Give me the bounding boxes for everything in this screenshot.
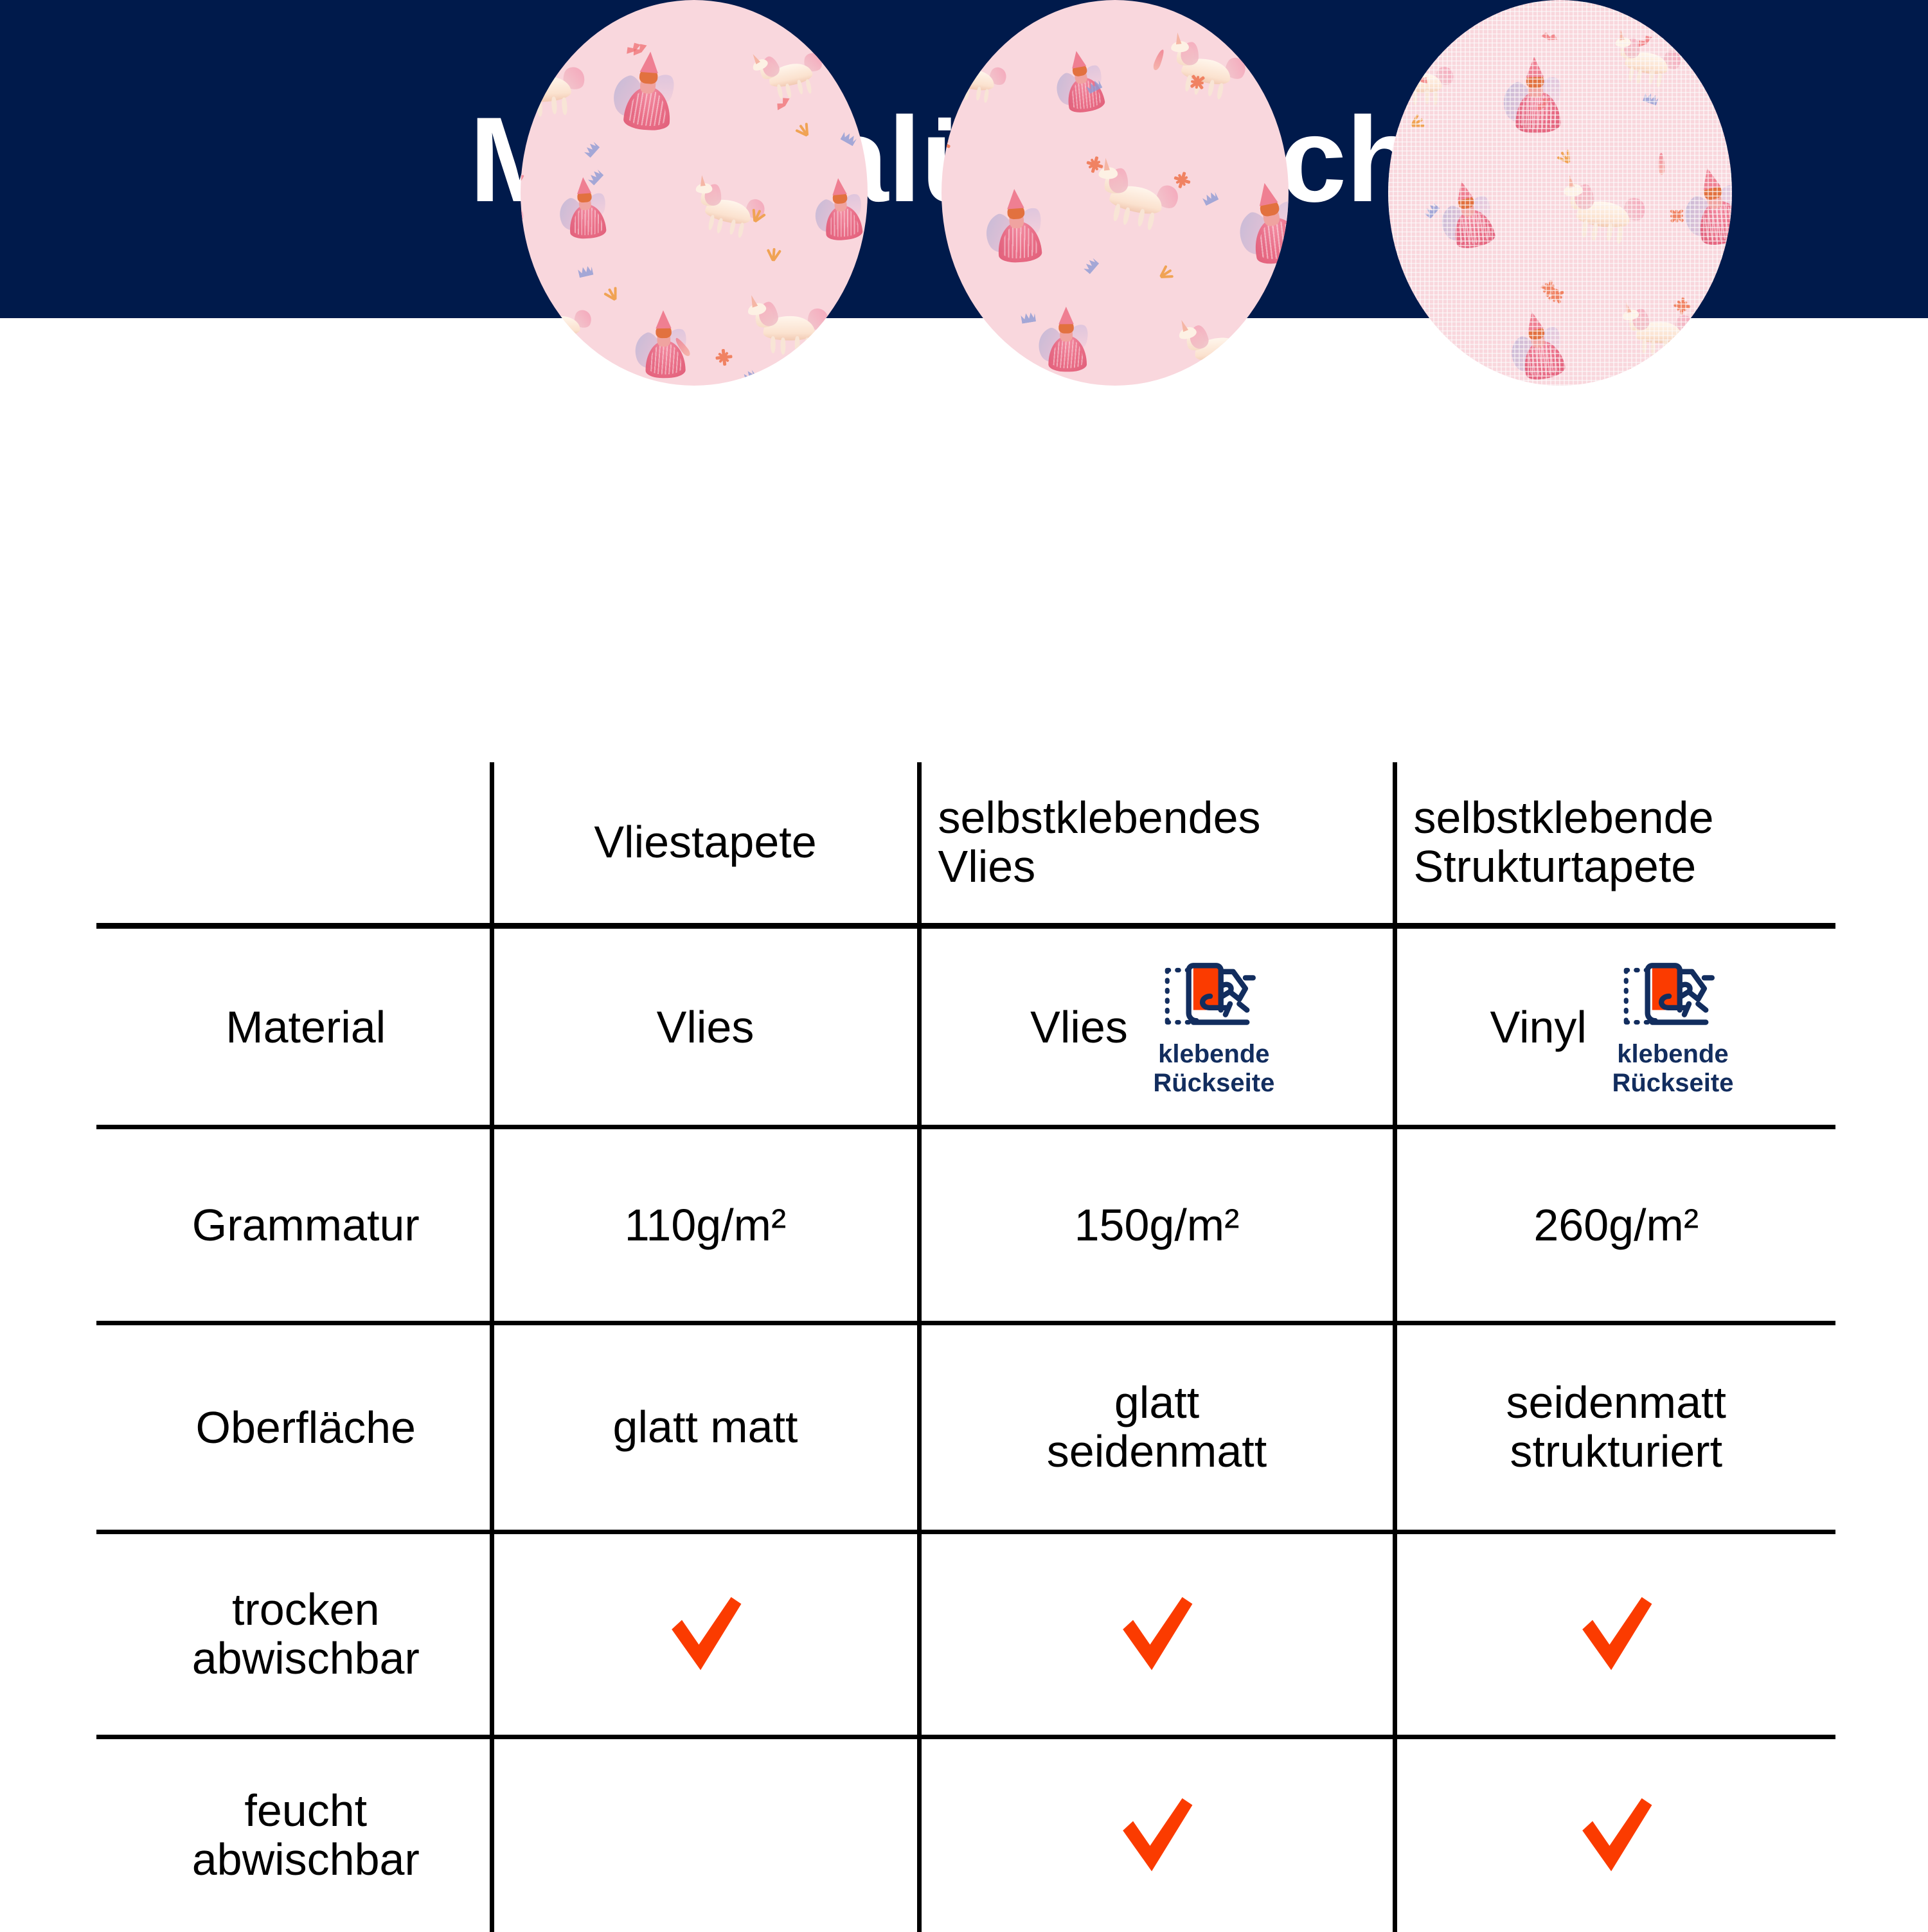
table-row-oberflaeche: Oberfläche glatt matt glatt seidenmatt s… — [96, 1323, 1835, 1532]
sprout-motif — [942, 0, 947, 4]
fairy-motif — [618, 58, 678, 134]
check-icon — [663, 1592, 748, 1677]
unicorn-motif — [942, 309, 994, 366]
fairy-motif — [1510, 64, 1566, 137]
feather-motif — [1284, 30, 1289, 49]
check-icon — [1114, 1592, 1199, 1677]
fairy-motif — [1512, 314, 1571, 386]
bird-motif — [563, 0, 579, 18]
bird-motif — [1540, 31, 1558, 42]
cell-feucht-selbstklebende-strukturtapete — [1395, 1737, 1835, 1932]
cell-oberflaeche-selbstklebendes-vlies: glatt seidenmatt — [919, 1323, 1395, 1532]
badge-caption-line-2: Rückseite — [1153, 1069, 1274, 1097]
check-icon — [1574, 1592, 1659, 1677]
crown-motif — [578, 265, 594, 278]
cell-value-line: glatt — [922, 1379, 1393, 1427]
row-label-line: abwischbar — [122, 1634, 490, 1683]
adhesive-back-icon — [1615, 956, 1731, 1036]
bird-motif — [767, 9, 786, 22]
bird-motif — [1438, 17, 1456, 33]
row-label-line: feucht — [122, 1787, 490, 1836]
fairy-unicorn-pattern — [942, 0, 1289, 386]
fairy-motif — [990, 195, 1046, 267]
cell-feucht-vliestapete — [492, 1737, 919, 1932]
cell-value: Vlies — [1030, 1001, 1128, 1053]
material-spec-table: Vliestapete selbstklebendes Vlies selbst… — [96, 762, 1835, 1932]
crown-motif — [1202, 190, 1219, 206]
fairy-unicorn-pattern — [521, 0, 868, 386]
unicorn-motif — [942, 57, 1008, 105]
feather-motif — [1657, 153, 1665, 175]
row-label-line: abwischbar — [122, 1836, 490, 1884]
pattern-motifs — [521, 0, 868, 386]
crown-motif — [1422, 201, 1439, 219]
material-swatch-row — [0, 0, 1928, 398]
sprout-motif — [1269, 382, 1285, 386]
cell-grammatur-selbstklebendes-vlies: 150g/m² — [919, 1127, 1395, 1323]
unicorn-motif — [1389, 63, 1454, 105]
swatch-selbstklebende-strukturtapete — [1388, 0, 1732, 386]
row-label-grammatur: Grammatur — [96, 1127, 492, 1323]
table-row-grammatur: Grammatur 110g/m² 150g/m² 260g/m² — [96, 1127, 1835, 1323]
fairy-motif — [1057, 53, 1109, 117]
row-label-trocken-abwischbar: trocken abwischbar — [96, 1532, 492, 1737]
badge-caption-line-2: Rückseite — [1612, 1069, 1733, 1097]
cell-value: Vinyl — [1490, 1001, 1587, 1053]
pattern-motifs — [1388, 0, 1732, 386]
unicorn-motif — [521, 194, 526, 249]
star-motif — [942, 132, 953, 155]
pattern-motifs — [942, 0, 1289, 386]
badge-caption-line-1: klebende — [1158, 1040, 1269, 1068]
column-header-line: Vlies — [938, 843, 1393, 891]
check-icon — [1574, 1793, 1659, 1878]
header-corner-cell — [96, 762, 492, 926]
crown-motif — [1021, 311, 1036, 323]
unicorn-motif — [521, 62, 587, 119]
unicorn-motif — [1388, 323, 1441, 373]
swatch-vliestapete — [521, 0, 868, 386]
adhesive-back-badge: klebende Rückseite — [1145, 956, 1283, 1098]
cell-value-line: strukturiert — [1397, 1427, 1836, 1476]
star-motif — [849, 260, 868, 281]
table-row-trocken-abwischbar: trocken abwischbar — [96, 1532, 1835, 1737]
cell-feucht-selbstklebendes-vlies — [919, 1737, 1395, 1932]
cell-trocken-selbstklebende-strukturtapete — [1395, 1532, 1835, 1737]
fairy-motif — [1684, 170, 1732, 252]
fairy-motif — [1240, 186, 1289, 271]
cell-material-vliestapete: Vlies — [492, 926, 919, 1127]
sprout-motif — [1555, 147, 1575, 167]
crown-motif — [1643, 91, 1659, 105]
table-row-feucht-abwischbar: feucht abwischbar — [96, 1737, 1835, 1932]
bird-motif — [1620, 366, 1638, 381]
sprout-motif — [1156, 263, 1176, 283]
row-label-line: trocken — [122, 1586, 490, 1634]
unicorn-motif — [1166, 42, 1249, 103]
table-header-row: Vliestapete selbstklebendes Vlies selbst… — [96, 762, 1835, 926]
unicorn-motif — [1183, 325, 1260, 377]
cell-oberflaeche-selbstklebende-strukturtapete: seidenmatt strukturiert — [1395, 1323, 1835, 1532]
feather-motif — [1649, 0, 1667, 17]
fairy-motif — [563, 182, 610, 242]
sprout-motif — [793, 120, 814, 140]
table-row-material: Material Vlies Vlies — [96, 926, 1835, 1127]
cell-trocken-vliestapete — [492, 1532, 919, 1737]
star-motif — [1475, 0, 1494, 13]
unicorn-motif — [755, 48, 828, 104]
feather-motif — [1267, 279, 1287, 298]
feather-motif — [521, 172, 526, 192]
fairy-unicorn-pattern — [1388, 0, 1732, 386]
star-motif — [714, 348, 733, 367]
row-label-oberflaeche: Oberfläche — [96, 1323, 492, 1532]
cell-value-line: glatt matt — [494, 1403, 917, 1452]
cell-value-line: seidenmatt — [1397, 1379, 1836, 1427]
unicorn-motif — [1626, 311, 1695, 356]
column-header-line: selbstklebende — [1414, 794, 1836, 843]
star-motif — [852, 63, 868, 83]
swatch-selbstklebendes-vlies — [942, 0, 1289, 386]
row-label-material: Material — [96, 926, 492, 1127]
crown-motif — [739, 368, 756, 385]
cell-grammatur-vliestapete: 110g/m² — [492, 1127, 919, 1323]
feather-motif — [1152, 48, 1166, 71]
fairy-motif — [1442, 183, 1501, 255]
unicorn-motif — [1612, 38, 1683, 91]
column-header-line: Strukturtapete — [1414, 843, 1836, 891]
check-icon — [1114, 1793, 1199, 1878]
crown-motif — [840, 130, 857, 147]
sprout-motif — [1277, 78, 1289, 99]
unicorn-motif — [1562, 185, 1648, 247]
unicorn-motif — [752, 305, 829, 355]
column-header-line: selbstklebendes — [938, 794, 1393, 843]
column-header-selbstklebende-strukturtapete: selbstklebende Strukturtapete — [1395, 762, 1835, 926]
row-label-feucht-abwischbar: feucht abwischbar — [96, 1737, 492, 1932]
sprout-motif — [765, 246, 782, 262]
cell-oberflaeche-vliestapete: glatt matt — [492, 1323, 919, 1532]
adhesive-back-icon — [1156, 956, 1272, 1036]
cell-grammatur-selbstklebende-strukturtapete: 260g/m² — [1395, 1127, 1835, 1323]
crown-motif — [1082, 257, 1099, 274]
column-header-selbstklebendes-vlies: selbstklebendes Vlies — [919, 762, 1395, 926]
adhesive-back-badge: klebende Rückseite — [1603, 956, 1742, 1098]
badge-caption-line-1: klebende — [1617, 1040, 1728, 1068]
column-header-line: Vliestapete — [494, 818, 917, 867]
cell-trocken-selbstklebendes-vlies — [919, 1532, 1395, 1737]
cell-value: Vlies — [657, 1001, 754, 1053]
column-header-vliestapete: Vliestapete — [492, 762, 919, 926]
crown-motif — [583, 141, 600, 158]
sprout-motif — [602, 283, 622, 303]
sprout-motif — [1408, 112, 1428, 132]
unicorn-motif — [1093, 168, 1181, 235]
unicorn-motif — [529, 307, 591, 347]
cell-value-line: seidenmatt — [922, 1427, 1393, 1476]
fairy-motif — [818, 183, 866, 244]
cell-material-selbstklebendes-vlies: Vlies — [919, 926, 1395, 1127]
cell-material-selbstklebende-strukturtapete: Vinyl klebende — [1395, 926, 1835, 1127]
fairy-motif — [1045, 314, 1091, 374]
